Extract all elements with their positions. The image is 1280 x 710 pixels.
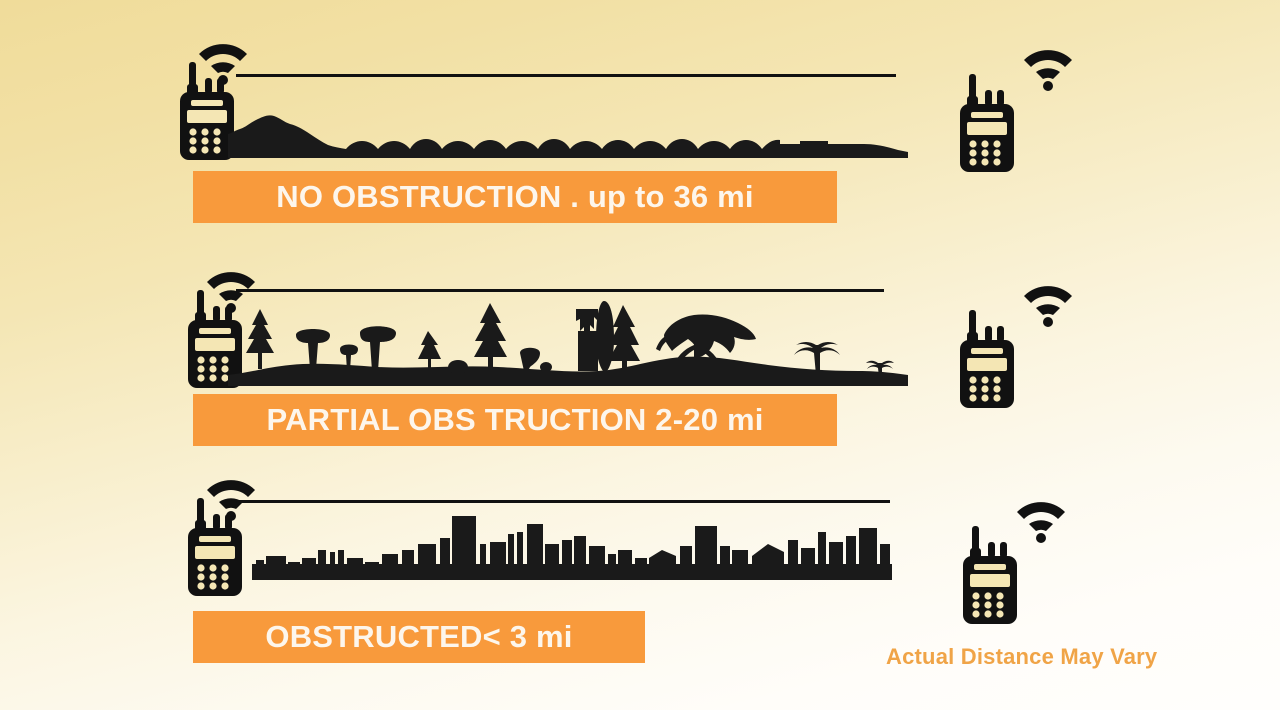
forest-trees-silhouette <box>228 291 908 386</box>
radio-keypad <box>969 140 1000 165</box>
radio-display <box>967 348 1007 371</box>
right-handheld-radio-row3 <box>948 490 1078 640</box>
radio-keypad <box>969 376 1000 401</box>
banner-label-no-obstruction: NO OBSTRUCTION . up to 36 mi <box>207 179 823 215</box>
row-no-obstruction: NO OBSTRUCTION . up to 36 mi <box>0 0 1280 240</box>
right-handheld-radio-row1 <box>945 38 1075 188</box>
footnote-disclaimer: Actual Distance May Vary <box>886 644 1157 670</box>
right-handheld-radio-row2 <box>945 274 1075 424</box>
banner-label-partial-obstruction: PARTIAL OBS TRUCTION 2-20 mi <box>207 402 823 438</box>
radio-display <box>195 536 235 559</box>
wifi-icon <box>1017 502 1065 543</box>
row-partial-obstruction: PARTIAL OBS TRUCTION 2-20 mi <box>0 236 1280 456</box>
wifi-icon <box>1024 286 1072 327</box>
mountain-terrain-silhouette <box>228 100 908 160</box>
city-skyline-silhouette <box>252 510 892 580</box>
wifi-icon <box>1024 50 1072 91</box>
banner-label-obstructed: OBSTRUCTED< 3 mi <box>207 619 631 655</box>
line-of-sight-row1 <box>236 74 896 77</box>
radio-keypad <box>197 356 228 381</box>
radio-keypad <box>197 564 228 589</box>
radio-display <box>970 564 1010 587</box>
radio-keypad <box>189 128 220 153</box>
radio-display <box>967 112 1007 135</box>
radio-range-infographic: NO OBSTRUCTION . up to 36 mi <box>0 0 1280 710</box>
radio-display <box>187 100 227 123</box>
banner-no-obstruction: NO OBSTRUCTION . up to 36 mi <box>193 171 837 223</box>
row-obstructed: OBSTRUCTED< 3 mi <box>0 450 1280 710</box>
radio-keypad <box>972 592 1003 617</box>
line-of-sight-row3 <box>236 500 890 503</box>
banner-obstructed: OBSTRUCTED< 3 mi <box>193 611 645 663</box>
banner-partial-obstruction: PARTIAL OBS TRUCTION 2-20 mi <box>193 394 837 446</box>
